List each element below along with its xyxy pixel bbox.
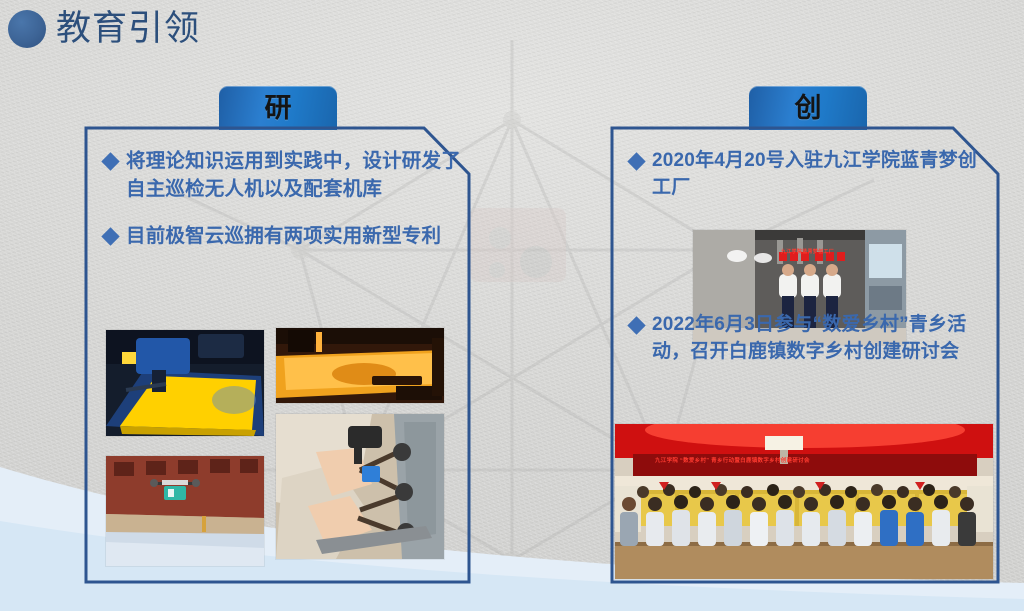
photo-drone-assembly-hands <box>276 414 444 559</box>
photo-factory-caption: 九江学院蓝青梦创工厂 <box>781 248 834 255</box>
slide-title-row: 教育引领 <box>8 10 200 49</box>
photo-conference-group: 九江学院 “数爱乡村” 青乡行动暨白鹿镇数字乡村创建研讨会 <box>615 424 993 579</box>
panel-innovation-bullet-1: 2020年4月20号入驻九江学院蓝青梦创工厂 <box>630 148 990 222</box>
tab-innovation[interactable]: 创 <box>749 86 867 130</box>
list-item: 2020年4月20号入驻九江学院蓝青梦创工厂 <box>630 148 990 202</box>
bullet-text: 2022年6月3日参与“数爱乡村”青乡活动，召开白鹿镇数字乡村创建研讨会 <box>652 312 990 366</box>
bullet-text: 2020年4月20号入驻九江学院蓝青梦创工厂 <box>652 148 990 202</box>
diamond-bullet-icon <box>101 152 119 170</box>
tab-research-label: 研 <box>265 95 292 122</box>
page-title: 教育引领 <box>56 10 200 49</box>
panel-innovation-bullet-2: 2022年6月3日参与“数爱乡村”青乡活动，召开白鹿镇数字乡村创建研讨会 <box>630 312 990 386</box>
bullet-circle-icon <box>8 10 46 48</box>
panel-research: 将理论知识运用到实践中，设计研发了自主巡检无人机以及配套机库 目前极智云巡拥有两… <box>84 126 471 584</box>
diamond-bullet-icon <box>101 228 119 246</box>
panel-innovation: 2020年4月20号入驻九江学院蓝青梦创工厂 <box>610 126 1000 584</box>
photo-drone-test-lab <box>106 456 264 566</box>
slide-canvas: 教育引领 研 创 将理论知识运用到实践中，设计研发了自主巡检无人机以及配套机库 … <box>0 0 1024 611</box>
diamond-bullet-icon <box>627 152 645 170</box>
list-item: 目前极智云巡拥有两项实用新型专利 <box>104 223 461 251</box>
diamond-bullet-icon <box>627 316 645 334</box>
bullet-text: 将理论知识运用到实践中，设计研发了自主巡检无人机以及配套机库 <box>126 148 461 203</box>
bullet-text: 目前极智云巡拥有两项实用新型专利 <box>126 223 441 251</box>
tab-innovation-label: 创 <box>795 95 822 122</box>
photo-3d-printer-orange-light <box>276 328 444 403</box>
tab-research[interactable]: 研 <box>219 86 337 130</box>
photo-3d-printer-yellow-bed <box>106 330 264 436</box>
list-item: 将理论知识运用到实践中，设计研发了自主巡检无人机以及配套机库 <box>104 148 461 203</box>
list-item: 2022年6月3日参与“数爱乡村”青乡活动，召开白鹿镇数字乡村创建研讨会 <box>630 312 990 366</box>
panel-research-bullets: 将理论知识运用到实践中，设计研发了自主巡检无人机以及配套机库 目前极智云巡拥有两… <box>104 148 461 271</box>
photo-conference-caption: 九江学院 “数爱乡村” 青乡行动暨白鹿镇数字乡村创建研讨会 <box>655 456 810 464</box>
